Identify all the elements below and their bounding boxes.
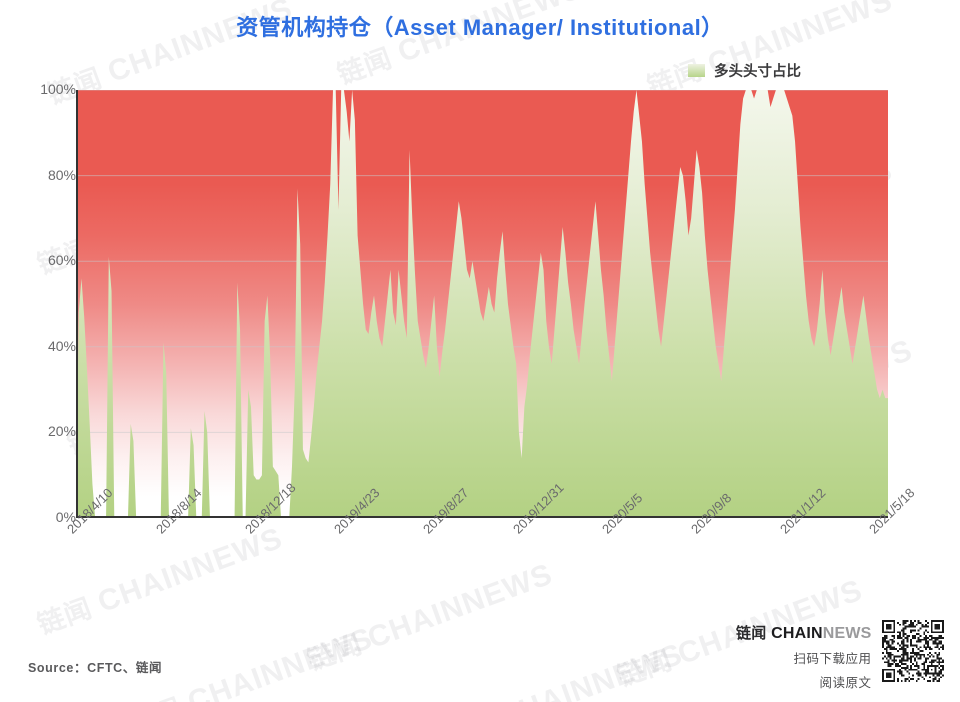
brand-block: 链闻 CHAINNEWS 扫码下载应用 阅读原文: [736, 620, 944, 691]
legend-label-long-share: 多头头寸占比: [714, 60, 801, 81]
brand-scan-line: 扫码下载应用: [736, 648, 872, 667]
area-series-long-share: [76, 90, 888, 518]
brand-logo-chain: CHAIN: [771, 625, 823, 642]
y-axis-tick-label: 40%: [48, 338, 76, 354]
watermark-text: 链闻 CHAINNEWS: [31, 517, 287, 642]
y-axis-tick-label: 20%: [48, 423, 76, 439]
brand-logo: 链闻 CHAINNEWS: [736, 622, 872, 643]
watermark-text: 链闻 CHAINNEWS: [431, 633, 687, 702]
legend-swatch-long-share: [688, 64, 705, 77]
area-series-svg: [76, 90, 888, 518]
y-axis-tick-label: 60%: [48, 252, 76, 268]
source-note: Source：CFTC、链闻: [28, 657, 162, 676]
brand-read-line[interactable]: 阅读原文: [736, 672, 872, 691]
chart-legend: 多头头寸占比: [688, 60, 801, 81]
chart-plot-area: [76, 90, 888, 518]
brand-logo-cn: 链闻: [736, 625, 766, 642]
brand-logo-news: NEWS: [823, 625, 872, 642]
page-title: 资管机构持仓（Asset Manager/ Institutional）: [0, 10, 960, 42]
y-axis-tick-label: 80%: [48, 167, 76, 183]
brand-text: 链闻 CHAINNEWS 扫码下载应用 阅读原文: [736, 620, 872, 691]
watermark-text: 链闻 CHAINNEWS: [301, 553, 557, 678]
y-axis-tick-label: 100%: [40, 81, 76, 97]
qr-code-icon[interactable]: [882, 620, 944, 682]
